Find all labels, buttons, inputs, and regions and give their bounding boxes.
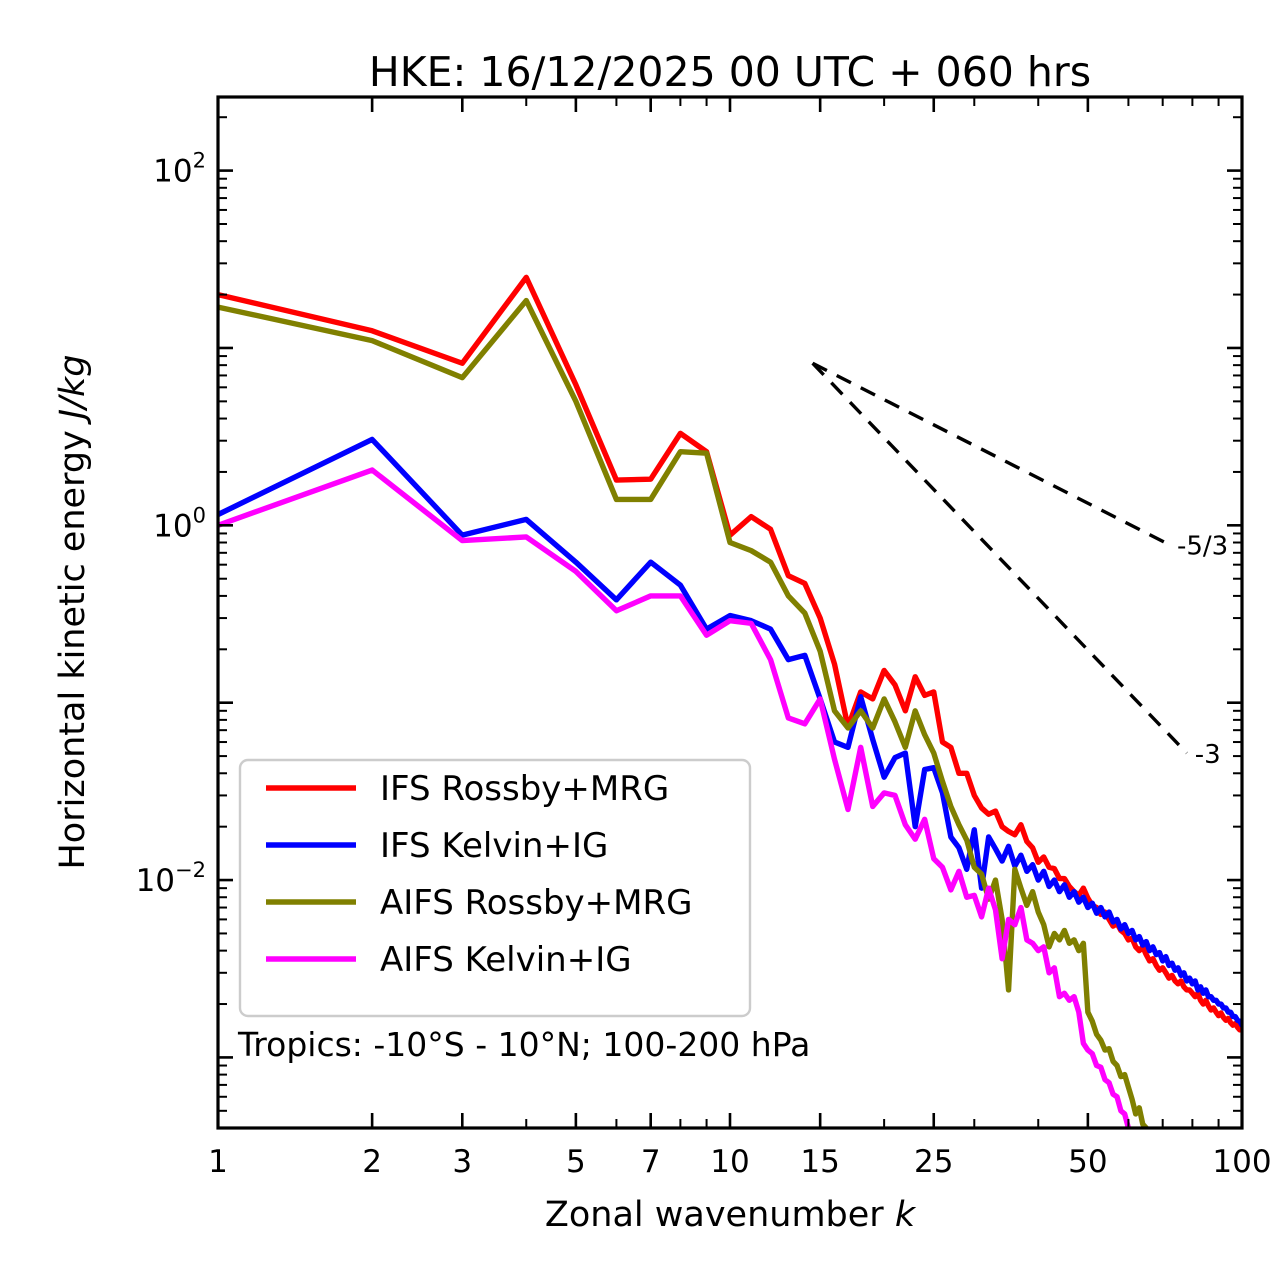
tropics-annotation: Tropics: -10°S - 10°N; 100-200 hPa [237,1025,810,1064]
legend-label-3[interactable]: AIFS Kelvin+IG [380,940,632,980]
x-tick-label-15: 15 [800,1144,839,1180]
x-tick-label-1: 1 [208,1144,228,1180]
slope-label-0: -5/3 [1177,531,1228,561]
x-tick-label-50: 50 [1068,1144,1107,1180]
x-axis-label-italic: k [895,1195,917,1235]
legend-label-0[interactable]: IFS Rossby+MRG [380,769,669,809]
y-axis-label-italic: J/kg [53,354,93,425]
x-axis-label: Zonal wavenumber k [545,1195,917,1235]
x-tick-label-100: 100 [1212,1144,1271,1180]
chart-title: HKE: 16/12/2025 00 UTC + 060 hrs [369,48,1091,96]
legend[interactable]: IFS Rossby+MRGIFS Kelvin+IGAIFS Rossby+M… [240,760,750,1016]
legend-label-2[interactable]: AIFS Rossby+MRG [380,883,692,923]
figure-canvas: HKE: 16/12/2025 00 UTC + 060 hrs 1235710… [0,0,1280,1288]
y-axis-label: Horizontal kinetic energy J/kg [53,354,93,869]
slope-label-1: -3 [1195,740,1221,770]
x-tick-label-25: 25 [914,1144,953,1180]
x-tick-label-7: 7 [641,1144,661,1180]
chart-svg: HKE: 16/12/2025 00 UTC + 060 hrs 1235710… [0,0,1280,1288]
x-tick-label-5: 5 [566,1144,586,1180]
x-tick-label-2: 2 [362,1144,382,1180]
y-axis-label-main: Horizontal kinetic energy [53,419,93,869]
x-tick-label-3: 3 [452,1144,472,1180]
x-tick-label-10: 10 [710,1144,749,1180]
legend-label-1[interactable]: IFS Kelvin+IG [380,826,608,866]
x-axis-label-main: Zonal wavenumber [545,1195,895,1235]
